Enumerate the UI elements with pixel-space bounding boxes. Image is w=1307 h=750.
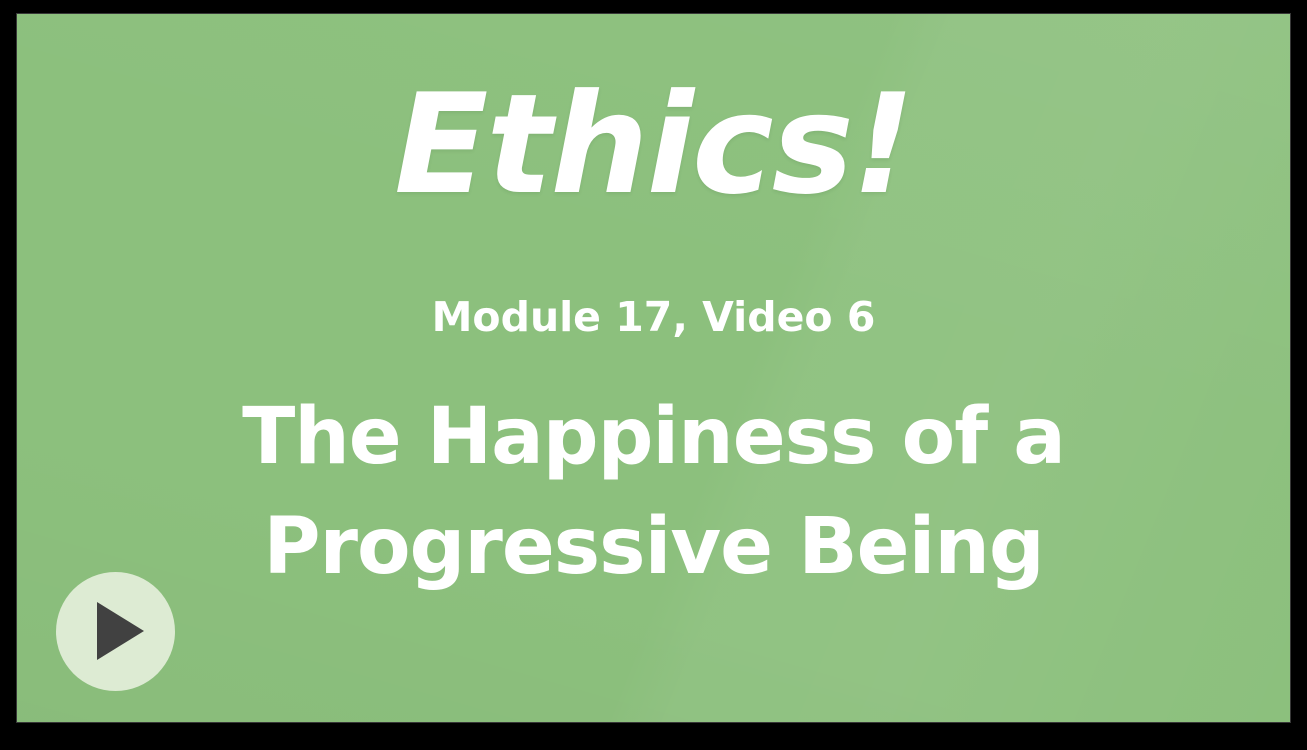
video-player-frame: Ethics! Module 17, Video 6 The Happiness… bbox=[0, 0, 1307, 750]
video-title-line-1: The Happiness of a bbox=[17, 382, 1290, 492]
brand-title: Ethics! bbox=[17, 76, 1290, 214]
play-button[interactable] bbox=[56, 572, 175, 691]
video-poster[interactable]: Ethics! Module 17, Video 6 The Happiness… bbox=[17, 14, 1290, 722]
play-triangle-icon bbox=[97, 602, 144, 660]
video-title: The Happiness of a Progressive Being bbox=[17, 382, 1290, 602]
module-label: Module 17, Video 6 bbox=[17, 297, 1290, 338]
video-title-line-2: Progressive Being bbox=[17, 492, 1290, 602]
